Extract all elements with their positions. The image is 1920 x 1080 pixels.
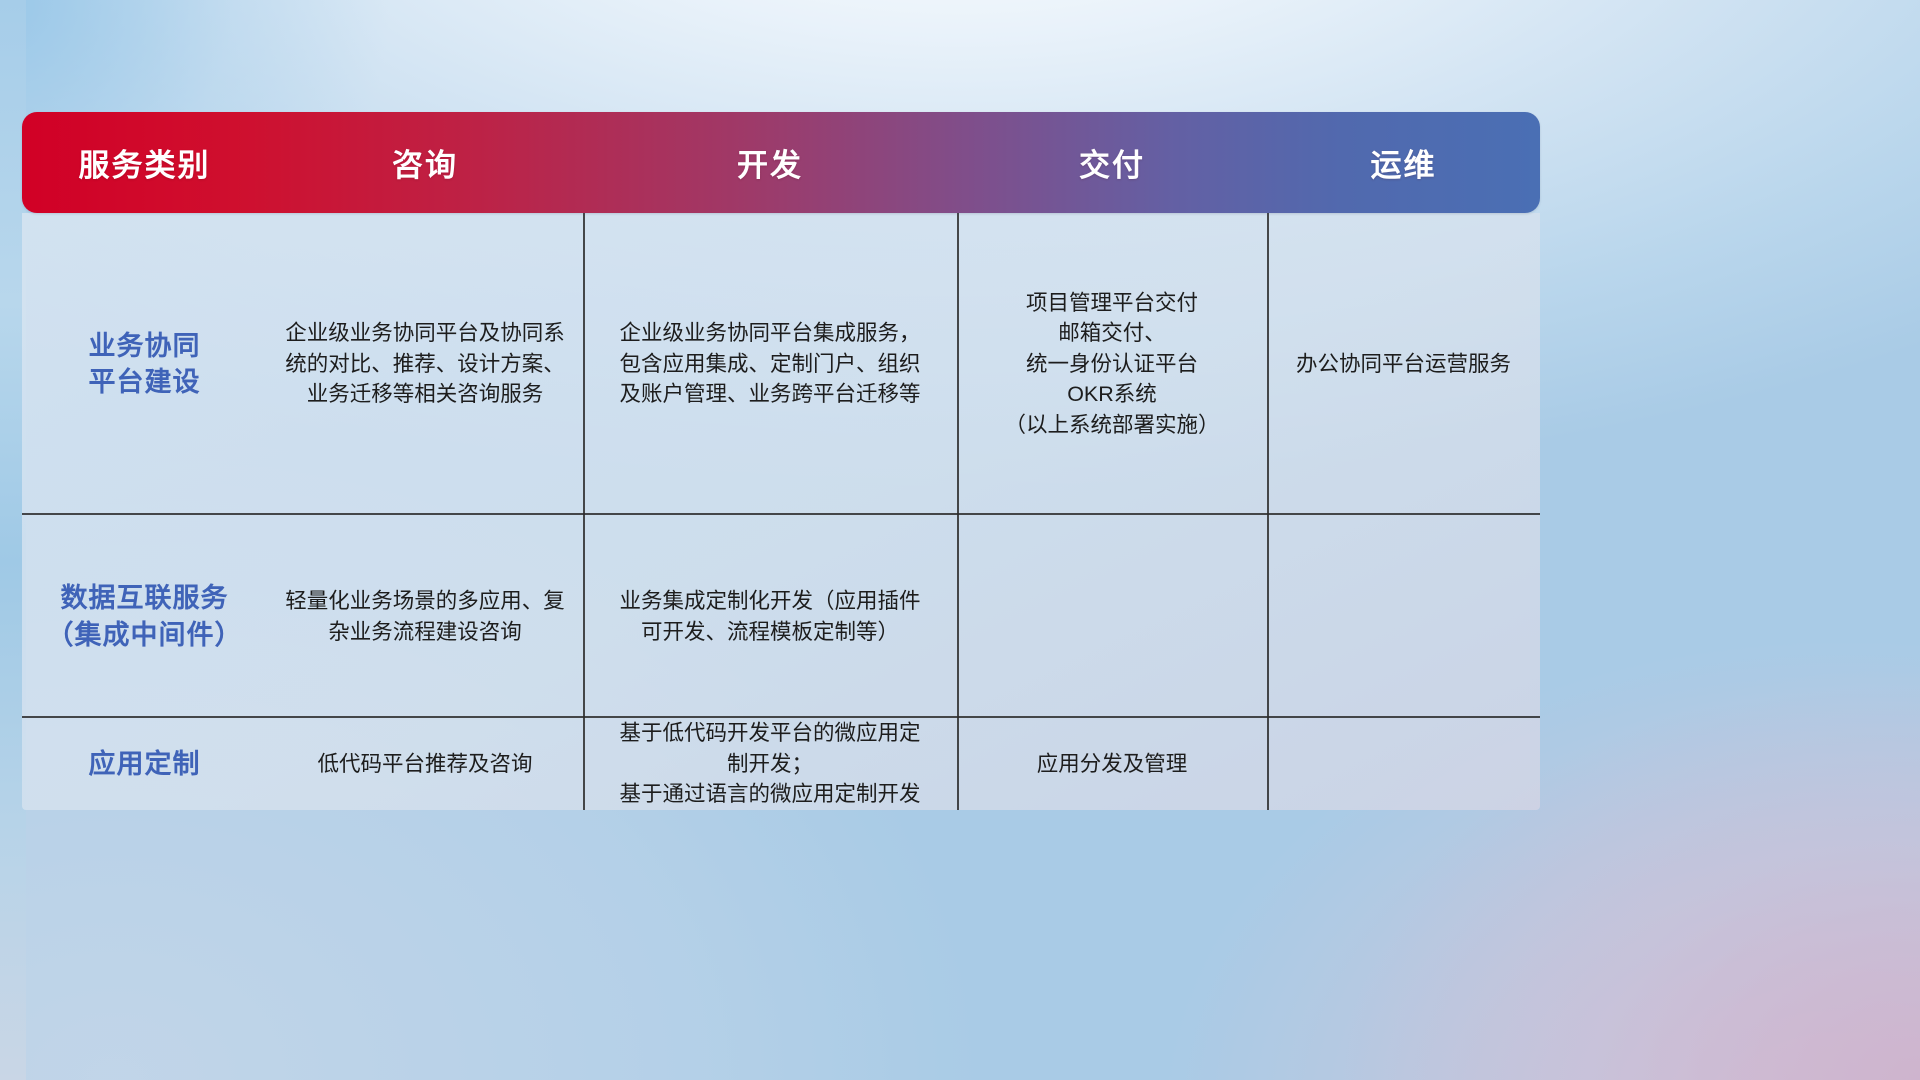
header-cell-development: 开发 [583, 140, 957, 185]
header-cell-service-category: 服务类别 [22, 140, 267, 185]
cell-row1-delivery: 项目管理平台交付 邮箱交付、 统一身份认证平台 OKR系统 （以上系统部署实施） [957, 288, 1267, 441]
cell-row3-consulting: 低代码平台推荐及咨询 [267, 749, 583, 780]
table-body: 业务协同 平台建设 企业级业务协同平台及协同系 统的对比、推荐、设计方案、 业务… [22, 213, 1540, 810]
service-matrix-table: 服务类别 咨询 开发 交付 运维 业务协同 平台建设 企业级业务协同平台及协同系… [22, 112, 1540, 775]
row-label-business-collaboration: 业务协同 平台建设 [22, 328, 267, 401]
cell-row3-development: 基于低代码开发平台的微应用定 制开发； 基于通过语言的微应用定制开发 [583, 718, 957, 810]
header-cell-consulting: 咨询 [267, 140, 583, 185]
cell-row1-operations: 办公协同平台运营服务 [1267, 349, 1540, 380]
cell-row2-consulting: 轻量化业务场景的多应用、复 杂业务流程建设咨询 [267, 586, 583, 647]
table-header-row: 服务类别 咨询 开发 交付 运维 [22, 112, 1540, 213]
table-row: 业务协同 平台建设 企业级业务协同平台及协同系 统的对比、推荐、设计方案、 业务… [22, 213, 1540, 515]
cell-row3-delivery: 应用分发及管理 [957, 749, 1267, 780]
cell-row2-development: 业务集成定制化开发（应用插件 可开发、流程模板定制等） [583, 586, 957, 647]
row-label-data-integration: 数据互联服务 （集成中间件） [22, 580, 267, 653]
table-row: 应用定制 低代码平台推荐及咨询 基于低代码开发平台的微应用定 制开发； 基于通过… [22, 718, 1540, 810]
cell-row1-consulting: 企业级业务协同平台及协同系 统的对比、推荐、设计方案、 业务迁移等相关咨询服务 [267, 318, 583, 410]
table-row: 数据互联服务 （集成中间件） 轻量化业务场景的多应用、复 杂业务流程建设咨询 业… [22, 515, 1540, 718]
header-cell-delivery: 交付 [957, 140, 1267, 185]
header-cell-operations: 运维 [1267, 140, 1540, 185]
cell-row1-development: 企业级业务协同平台集成服务， 包含应用集成、定制门户、组织 及账户管理、业务跨平… [583, 318, 957, 410]
row-label-app-customization: 应用定制 [22, 746, 267, 782]
